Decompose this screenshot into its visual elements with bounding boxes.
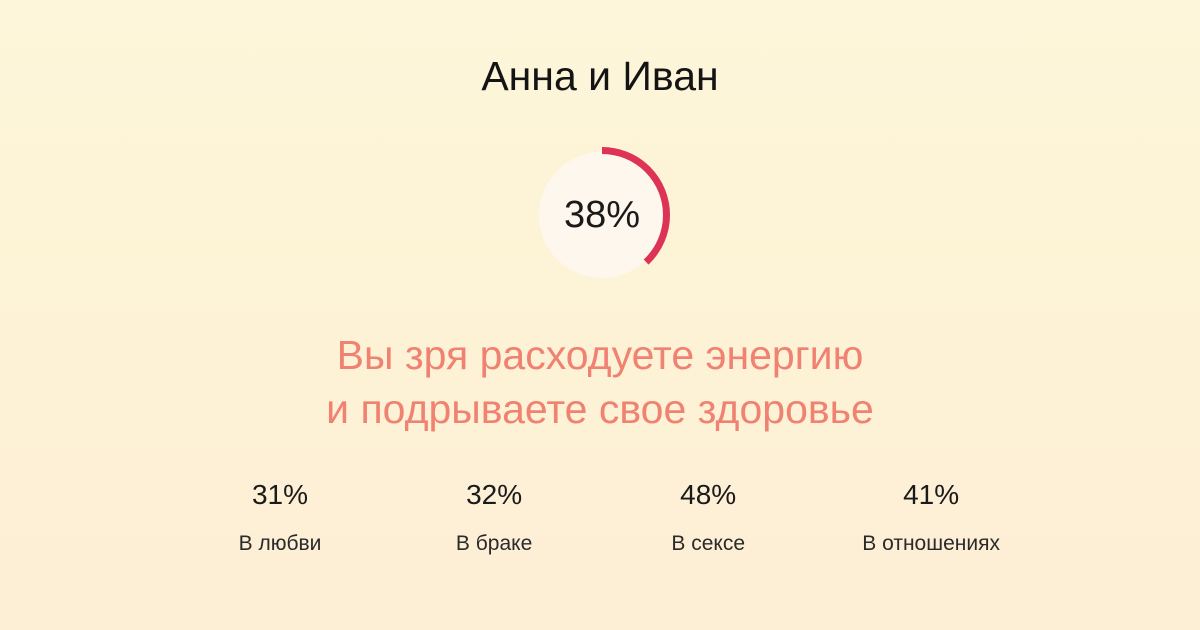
result-message-line-1: Вы зря расходуете энергию [0,328,1200,382]
stat-label: В сексе [648,531,768,557]
stat-label: В отношениях [862,531,1000,557]
page-title: Анна и Иван [0,52,1200,100]
stat-value: 41% [862,478,1000,512]
stat-item-sex: 48% В сексе [648,478,768,557]
result-message: Вы зря расходуете энергию и подрываете с… [0,328,1200,436]
stat-item-relationship: 41% В отношениях [862,478,1000,557]
compatibility-gauge: 38% [532,145,672,285]
compatibility-card: Анна и Иван 38% Вы зря расходуете энерги… [0,0,1200,630]
stat-value: 32% [434,478,554,512]
stat-label: В браке [434,531,554,557]
result-message-line-2: и подрываете свое здоровье [0,382,1200,436]
stat-item-love: 31% В любви [220,478,340,557]
stat-value: 48% [648,478,768,512]
stat-item-marriage: 32% В браке [434,478,554,557]
stat-value: 31% [220,478,340,512]
stats-row: 31% В любви 32% В браке 48% В сексе 41% … [220,478,1000,557]
stat-label: В любви [220,531,340,557]
gauge-value-label: 38% [532,145,672,285]
